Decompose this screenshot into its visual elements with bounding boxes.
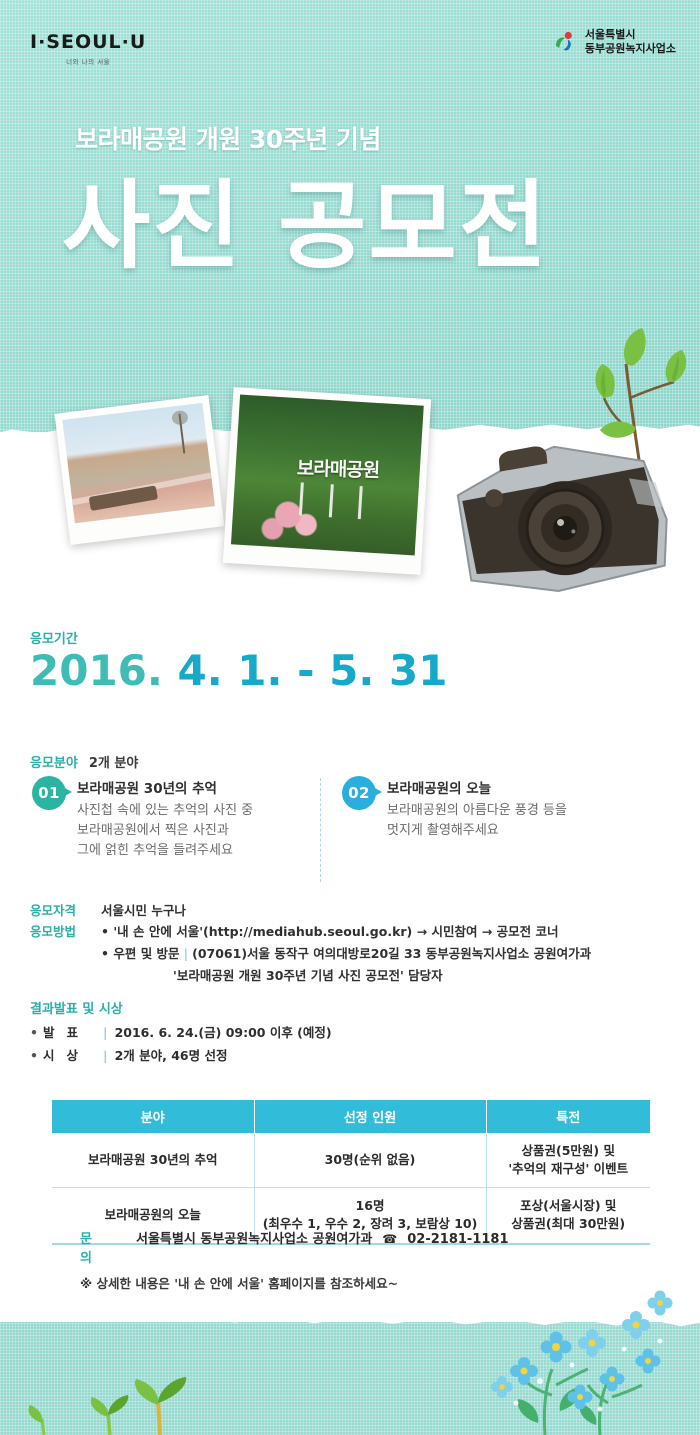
field-badge-01: 01 bbox=[32, 776, 66, 810]
results-row-announce: • 발표 | 2016. 6. 24.(금) 09:00 이후 (예정) bbox=[30, 1021, 670, 1044]
row1-count-line1: 30명(순위 없음) bbox=[260, 1151, 481, 1169]
field-item-01: 01 보라매공원 30년의 추억 사진첩 속에 있는 추억의 사진 중 보라매공… bbox=[32, 776, 332, 861]
photo-1-image bbox=[62, 403, 215, 523]
sign-post-2 bbox=[328, 484, 333, 517]
photo-2-image: 보라매공원 bbox=[231, 395, 424, 556]
field-badge-02-number: 02 bbox=[348, 784, 370, 802]
seoul-logo-line1: 서울특별시 bbox=[585, 28, 676, 42]
table-header-row: 분야 선정 인원 특전 bbox=[52, 1100, 650, 1133]
method-label: 응모방법 bbox=[30, 921, 92, 987]
method-row: 응모방법 • '내 손 안에 서울'(http://mediahub.seoul… bbox=[30, 921, 670, 987]
sign-post-3 bbox=[358, 486, 363, 519]
results-value-announce: 2016. 6. 24.(금) 09:00 이후 (예정) bbox=[115, 1021, 332, 1044]
field-01-desc: 사진첩 속에 있는 추억의 사진 중 보라매공원에서 찍은 사진과 그에 얽힌 … bbox=[77, 801, 253, 861]
period-year: 2016. bbox=[30, 646, 163, 695]
results-bullet-1: • bbox=[30, 1021, 38, 1044]
field-02-desc: 보라매공원의 아름다운 풍경 등을 멋지게 촬영해주세요 bbox=[387, 801, 567, 841]
seoul-emblem-icon bbox=[552, 29, 578, 55]
period-dash: - bbox=[297, 646, 314, 695]
sign-post-1 bbox=[299, 482, 304, 515]
field-02-desc-line1: 보라매공원의 아름다운 풍경 등을 bbox=[387, 801, 567, 821]
camera-illustration bbox=[445, 422, 687, 609]
field-01-desc-line3: 그에 얽힌 추억을 들려주세요 bbox=[77, 841, 253, 861]
period-value: 2016. 4. 1. - 5. 31 bbox=[30, 649, 447, 693]
table-header-prize: 특전 bbox=[486, 1100, 650, 1133]
method-line-attn: '보라매공원 개원 30주년 기념 사진 공모전' 담당자 bbox=[101, 965, 591, 987]
bottom-flower-decoration bbox=[0, 1285, 700, 1435]
row1-prize-line1: 상품권(5만원) 및 bbox=[492, 1142, 646, 1160]
table-row: 보라매공원 30년의 추억 30명(순위 없음) 상품권(5만원) 및 '추억의… bbox=[52, 1133, 650, 1188]
eligibility-label: 응모자격 bbox=[30, 900, 92, 919]
fields-label: 응모분야 bbox=[30, 752, 78, 771]
contact-label: 문의 bbox=[80, 1228, 126, 1266]
seoul-logo-line2: 동부공원녹지사업소 bbox=[585, 42, 676, 56]
row1-count: 30명(순위 없음) bbox=[254, 1133, 486, 1188]
row2-prize-line1: 포상(서울시장) 및 bbox=[492, 1197, 646, 1215]
results-sep-1: | bbox=[103, 1021, 108, 1044]
method-line-online: • '내 손 안에 서울'(http://mediahub.seoul.go.k… bbox=[101, 921, 591, 943]
poster-root: I·SEOUL·U 너와 나의 서울 서울특별시 동부공원녹지사업소 보라매공원… bbox=[0, 0, 700, 1435]
polaroid-photo-1 bbox=[55, 395, 225, 545]
phone-icon: ☎ bbox=[382, 1232, 397, 1246]
eligibility-value: 서울시민 누구나 bbox=[101, 900, 186, 919]
contact-org: 서울특별시 동부공원녹지사업소 공원여가과 bbox=[136, 1228, 372, 1247]
field-01-desc-line1: 사진첩 속에 있는 추억의 사진 중 bbox=[77, 801, 253, 821]
contact-line: 문의 서울특별시 동부공원녹지사업소 공원여가과 ☎02-2181-1181 bbox=[80, 1228, 660, 1266]
period-end: 5. 31 bbox=[329, 646, 447, 695]
field-badge-02: 02 bbox=[342, 776, 376, 810]
row2-count-line1: 16명 bbox=[260, 1197, 481, 1215]
fields-count: 2개 분야 bbox=[89, 752, 138, 771]
results-sep-2: | bbox=[103, 1044, 108, 1067]
method-line-mail: • 우편 및 방문|(07061)서울 동작구 여의대방로20길 33 동부공원… bbox=[101, 943, 591, 965]
row1-field: 보라매공원 30년의 추억 bbox=[52, 1133, 254, 1188]
seoul-logo-text: 서울특별시 동부공원녹지사업소 bbox=[585, 28, 676, 56]
park-sign-text: 보라매공원 bbox=[296, 454, 379, 483]
i-seoul-u-tagline: 너와 나의 서울 bbox=[30, 56, 146, 66]
title-kicker: 보라매공원 개원 30주년 기념 bbox=[75, 120, 381, 156]
fields-header: 응모분야 2개 분야 bbox=[30, 752, 138, 771]
application-period: 응모기간 2016. 4. 1. - 5. 31 bbox=[30, 628, 447, 693]
results-section: 결과발표 및 시상 • 발표 | 2016. 6. 24.(금) 09:00 이… bbox=[30, 998, 670, 1067]
eligibility-row: 응모자격 서울시민 누구나 bbox=[30, 900, 670, 919]
i-seoul-u-logo: I·SEOUL·U 너와 나의 서울 bbox=[30, 33, 146, 66]
contact-phone: 02-2181-1181 bbox=[407, 1232, 508, 1247]
table-header-field: 분야 bbox=[52, 1100, 254, 1133]
field-item-02: 02 보라매공원의 오늘 보라매공원의 아름다운 풍경 등을 멋지게 촬영해주세… bbox=[342, 776, 642, 841]
application-info: 응모자격 서울시민 누구나 응모방법 • '내 손 안에 서울'(http://… bbox=[30, 900, 670, 989]
page-title: 사진 공모전 bbox=[62, 178, 549, 274]
prize-table: 분야 선정 인원 특전 보라매공원 30년의 추억 30명(순위 없음) 상품권… bbox=[52, 1100, 650, 1245]
field-01-title: 보라매공원 30년의 추억 bbox=[77, 777, 253, 797]
table-header-count: 선정 인원 bbox=[254, 1100, 486, 1133]
period-start: 4. 1 bbox=[177, 646, 266, 695]
results-value-award: 2개 분야, 46명 선정 bbox=[115, 1044, 228, 1067]
results-row-award: • 시상 | 2개 분야, 46명 선정 bbox=[30, 1044, 670, 1067]
row1-prize-line2: '추억의 재구성' 이벤트 bbox=[492, 1160, 646, 1178]
row1-prize: 상품권(5만원) 및 '추억의 재구성' 이벤트 bbox=[486, 1133, 650, 1188]
photo-1-tree bbox=[179, 414, 186, 453]
seoul-city-logo: 서울특별시 동부공원녹지사업소 bbox=[552, 28, 676, 56]
i-seoul-u-wordmark: I·SEOUL·U bbox=[30, 33, 146, 52]
results-key-award: 시상 bbox=[43, 1044, 103, 1067]
field-badge-01-number: 01 bbox=[38, 784, 60, 802]
results-bullet-2: • bbox=[30, 1044, 38, 1067]
method-values: • '내 손 안에 서울'(http://mediahub.seoul.go.k… bbox=[101, 921, 591, 987]
polaroid-photo-2: 보라매공원 bbox=[223, 387, 431, 575]
method-mail-key: • 우편 및 방문 bbox=[101, 946, 180, 961]
results-key-announce: 발표 bbox=[43, 1021, 103, 1044]
field-02-desc-line2: 멋지게 촬영해주세요 bbox=[387, 821, 567, 841]
field-02-title: 보라매공원의 오늘 bbox=[387, 777, 567, 797]
method-mail-value: (07061)서울 동작구 여의대방로20길 33 동부공원녹지사업소 공원여가… bbox=[192, 946, 591, 961]
period-label: 응모기간 bbox=[30, 628, 447, 647]
field-01-desc-line2: 보라매공원에서 찍은 사진과 bbox=[77, 821, 253, 841]
results-title: 결과발표 및 시상 bbox=[30, 998, 670, 1017]
contact-section: 문의 서울특별시 동부공원녹지사업소 공원여가과 ☎02-2181-1181 ※… bbox=[80, 1228, 660, 1292]
